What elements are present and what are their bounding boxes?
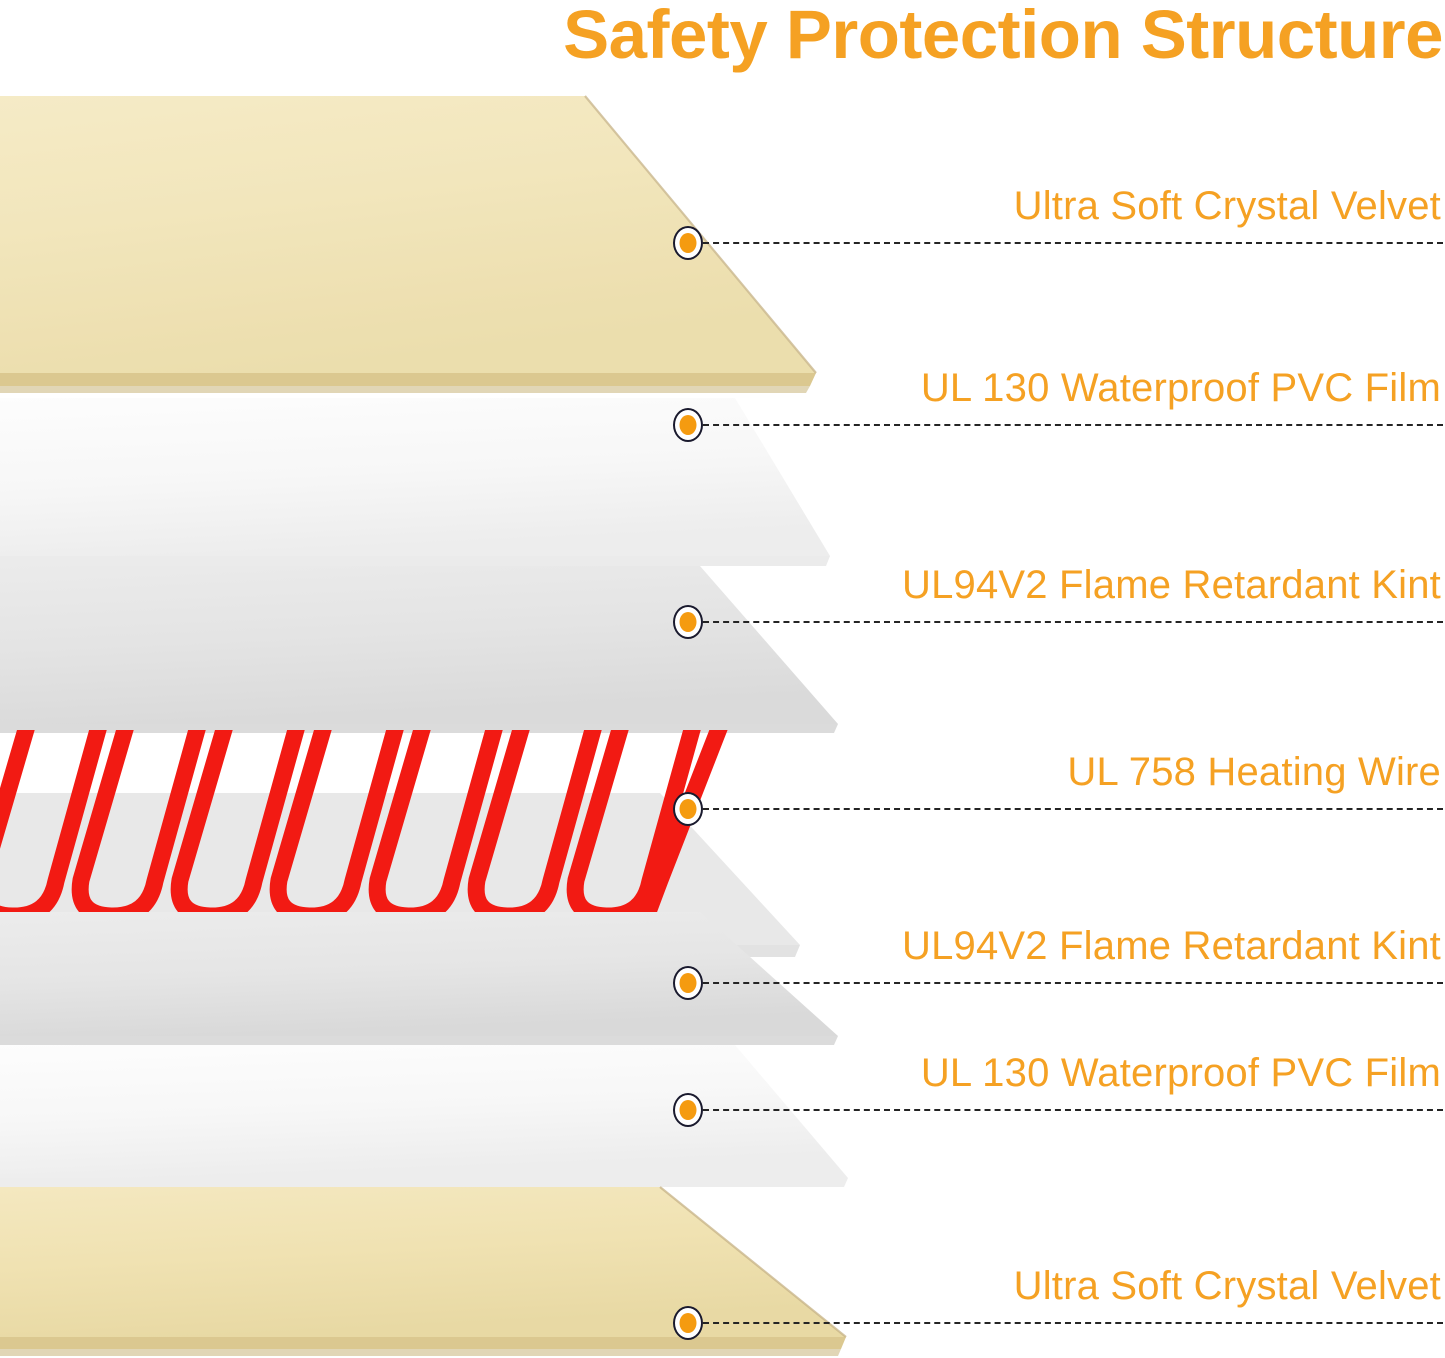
callout-marker-icon[interactable] bbox=[673, 1306, 703, 1340]
callout-marker-icon[interactable] bbox=[673, 966, 703, 1000]
callout-marker-icon[interactable] bbox=[673, 1093, 703, 1127]
layer-flame-retardant-knit-lower bbox=[0, 912, 838, 1045]
callout-marker-icon[interactable] bbox=[673, 226, 703, 260]
leader-line bbox=[703, 621, 1443, 623]
layer-velvet-bottom bbox=[0, 1187, 846, 1356]
leader-line bbox=[703, 1322, 1443, 1324]
callout-label: Ultra Soft Crystal Velvet bbox=[1014, 1264, 1441, 1309]
callout-label: Ultra Soft Crystal Velvet bbox=[1014, 184, 1441, 229]
leader-line bbox=[703, 242, 1443, 244]
safety-protection-structure-infographic: Safety Protection Structure bbox=[0, 0, 1445, 1358]
callout-label: UL94V2 Flame Retardant Kint bbox=[902, 924, 1441, 969]
callout-marker-icon[interactable] bbox=[673, 605, 703, 639]
callout-marker-icon[interactable] bbox=[673, 792, 703, 826]
layer-pvc-film-lower bbox=[0, 1045, 848, 1187]
leader-line bbox=[703, 424, 1443, 426]
layer-flame-retardant-knit-upper bbox=[0, 566, 838, 733]
callout-label: UL 130 Waterproof PVC Film bbox=[921, 366, 1441, 411]
leader-line bbox=[703, 808, 1443, 810]
callout-label: UL94V2 Flame Retardant Kint bbox=[902, 563, 1441, 608]
callout-label: UL 758 Heating Wire bbox=[1067, 750, 1441, 795]
leader-line bbox=[703, 1109, 1443, 1111]
callout-marker-icon[interactable] bbox=[673, 408, 703, 442]
leader-line bbox=[703, 982, 1443, 984]
callout-label: UL 130 Waterproof PVC Film bbox=[921, 1051, 1441, 1096]
